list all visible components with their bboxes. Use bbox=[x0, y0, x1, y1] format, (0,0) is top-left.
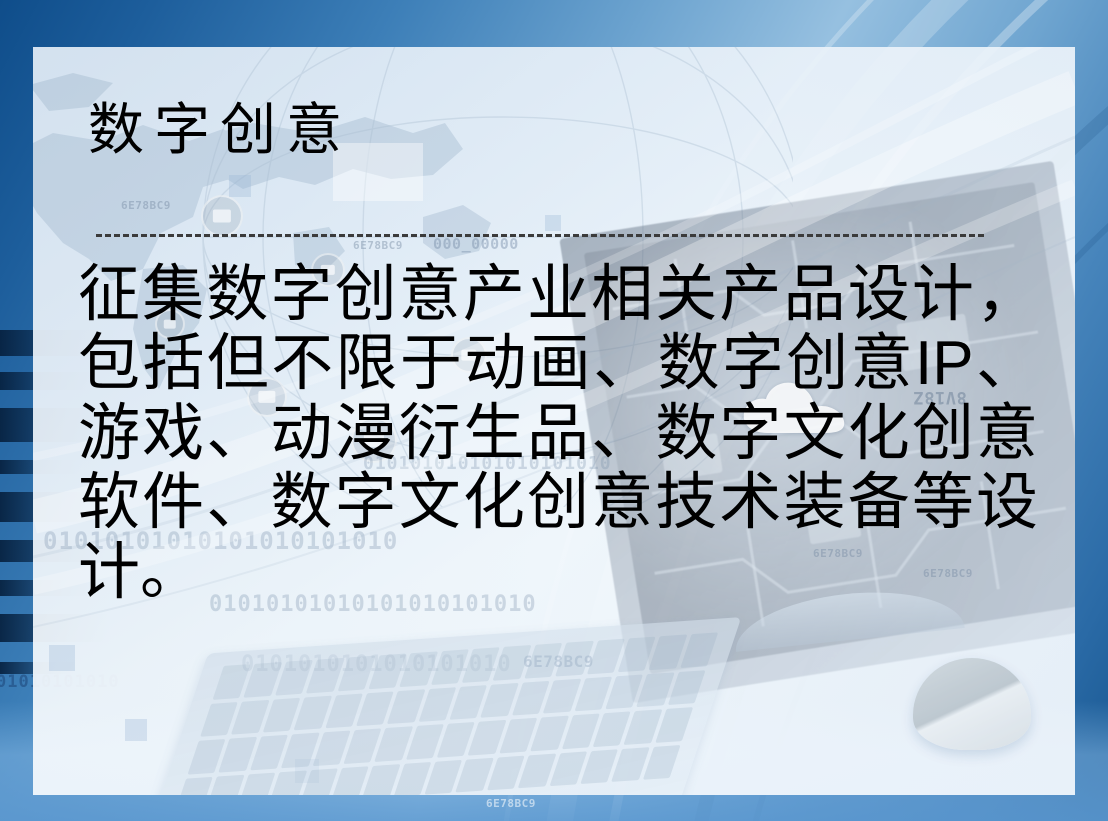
presentation-slide: 01010101010 6E78BC9 bbox=[0, 0, 1108, 821]
slide-body-text: 征集数字创意产业相关产品设计，包括但不限于动画、数字创意IP、游戏、动漫衍生品、… bbox=[78, 260, 1038, 607]
slide-content: 数字创意 征集数字创意产业相关产品设计，包括但不限于动画、数字创意IP、游戏、动… bbox=[0, 0, 1108, 821]
title-divider bbox=[96, 234, 984, 237]
page-title: 数字创意 bbox=[88, 98, 352, 162]
